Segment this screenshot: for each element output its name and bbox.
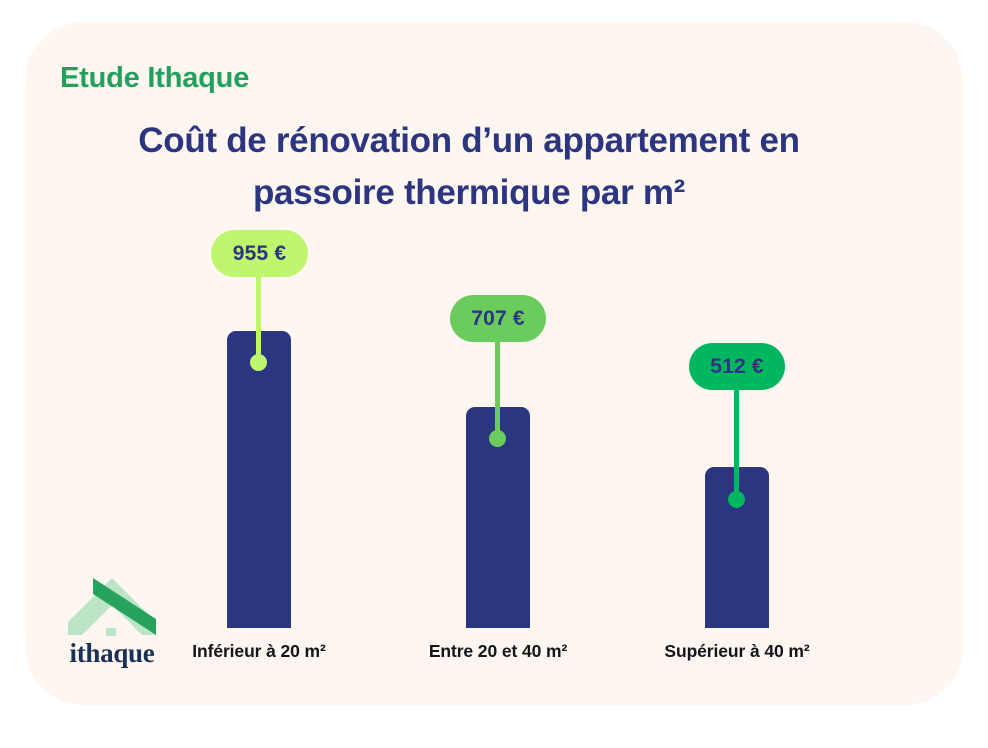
value-badge-label: 955 € — [233, 242, 287, 266]
value-connector-dot — [489, 430, 506, 447]
value-badge[interactable]: 512 € — [689, 343, 785, 390]
category-label: Entre 20 et 40 m² — [398, 641, 598, 662]
brand-logo: ithaque — [62, 578, 162, 670]
ithaque-roof-logo-icon — [68, 578, 156, 636]
value-connector-line — [734, 388, 739, 503]
bar-column[interactable] — [227, 331, 291, 628]
brand-wordmark: ithaque — [62, 638, 162, 669]
category-label: Inférieur à 20 m² — [159, 641, 359, 662]
value-badge-label: 512 € — [710, 355, 764, 379]
value-badge[interactable]: 707 € — [450, 295, 546, 342]
value-badge[interactable]: 955 € — [211, 230, 308, 277]
value-connector-dot — [250, 354, 267, 371]
value-badge-label: 707 € — [471, 307, 525, 331]
infographic-canvas: Etude Ithaque Coût de rénovation d’un ap… — [0, 0, 988, 748]
category-label-text: Inférieur à 20 m² — [192, 641, 326, 661]
category-label-text: Supérieur à 40 m² — [664, 641, 809, 661]
category-label: Supérieur à 40 m² — [637, 641, 837, 662]
value-connector-dot — [728, 491, 745, 508]
value-connector-line — [495, 340, 500, 444]
category-label-text: Entre 20 et 40 m² — [429, 641, 567, 661]
